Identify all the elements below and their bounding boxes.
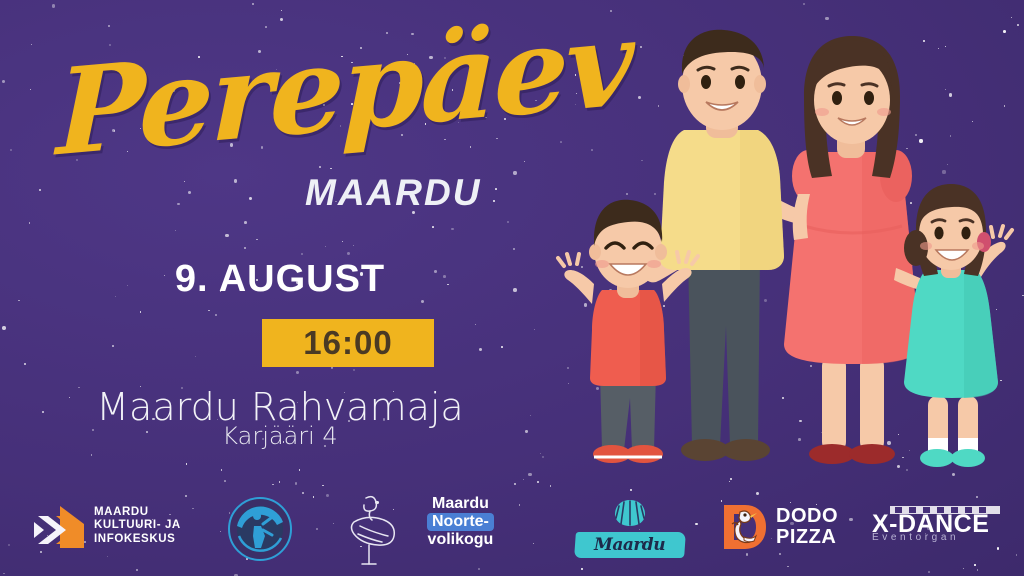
- sponsor-label: Maardu: [594, 535, 665, 555]
- sponsor-line-2: Eventorgan: [872, 532, 959, 543]
- sponsor-bar: MAARDU KULTUURI- JA INFOKESKUS: [0, 480, 1024, 576]
- sponsor-maardu-kultuuri-ja-infokeskus[interactable]: MAARDU KULTUURI- JA INFOKESKUS: [30, 502, 181, 550]
- maardu-brush-stroke: Maardu: [574, 532, 686, 558]
- sponsor-line-art-bird[interactable]: [340, 490, 402, 568]
- sponsor-dodo-pizza[interactable]: DODO PIZZA: [718, 502, 838, 552]
- figure-father: [645, 30, 816, 461]
- sponsor-maardu-brand[interactable]: Maardu: [575, 498, 685, 558]
- family-illustration: [554, 26, 1024, 486]
- page-title: Perepäev: [56, 14, 516, 173]
- bird-line-art-icon: [340, 490, 402, 568]
- figure-mother: [784, 36, 920, 464]
- sponsor-line-2: KULTUURI- JA: [94, 519, 181, 533]
- event-time-text: 16:00: [303, 324, 392, 362]
- circular-sport-badge-icon: [227, 496, 293, 562]
- sponsor-label: MAARDU KULTUURI- JA INFOKESKUS: [94, 506, 181, 547]
- sponsor-line-3: INFOKESKUS: [94, 533, 181, 547]
- sponsor-line-1: DODO: [776, 506, 838, 527]
- event-date: 9. AUGUST: [0, 258, 560, 301]
- sponsor-line-3: volikogu: [427, 531, 494, 549]
- event-time-badge: 16:00: [262, 319, 434, 367]
- venue-address: Karjääri 4: [0, 422, 560, 450]
- sponsor-line-2: PIZZA: [776, 527, 838, 548]
- sponsor-line-1: Maardu: [427, 495, 494, 513]
- sponsor-label: Maardu Noorte- volikogu: [427, 495, 494, 549]
- poster-text-column: Perepäev MAARDU 9. AUGUST 16:00 Maardu R…: [0, 0, 560, 480]
- page-subtitle: MAARDU: [305, 172, 481, 214]
- dodo-bird-icon: [718, 502, 768, 552]
- event-poster: Perepäev MAARDU 9. AUGUST 16:00 Maardu R…: [0, 0, 1024, 576]
- sponsor-maardu-noortevolikogu[interactable]: Maardu Noorte- volikogu: [427, 495, 494, 549]
- shell-icon: [613, 498, 647, 528]
- sponsor-line-1: MAARDU: [94, 506, 181, 520]
- figure-girl: [894, 184, 1012, 467]
- sponsor-circular-badge[interactable]: [227, 496, 293, 562]
- sponsor-x-dance[interactable]: X-DANCE Eventorgan: [872, 504, 1000, 543]
- sponsor-line-2-highlight: Noorte-: [427, 513, 494, 531]
- house-chevron-icon: [30, 502, 86, 550]
- sponsor-label: DODO PIZZA: [776, 506, 838, 548]
